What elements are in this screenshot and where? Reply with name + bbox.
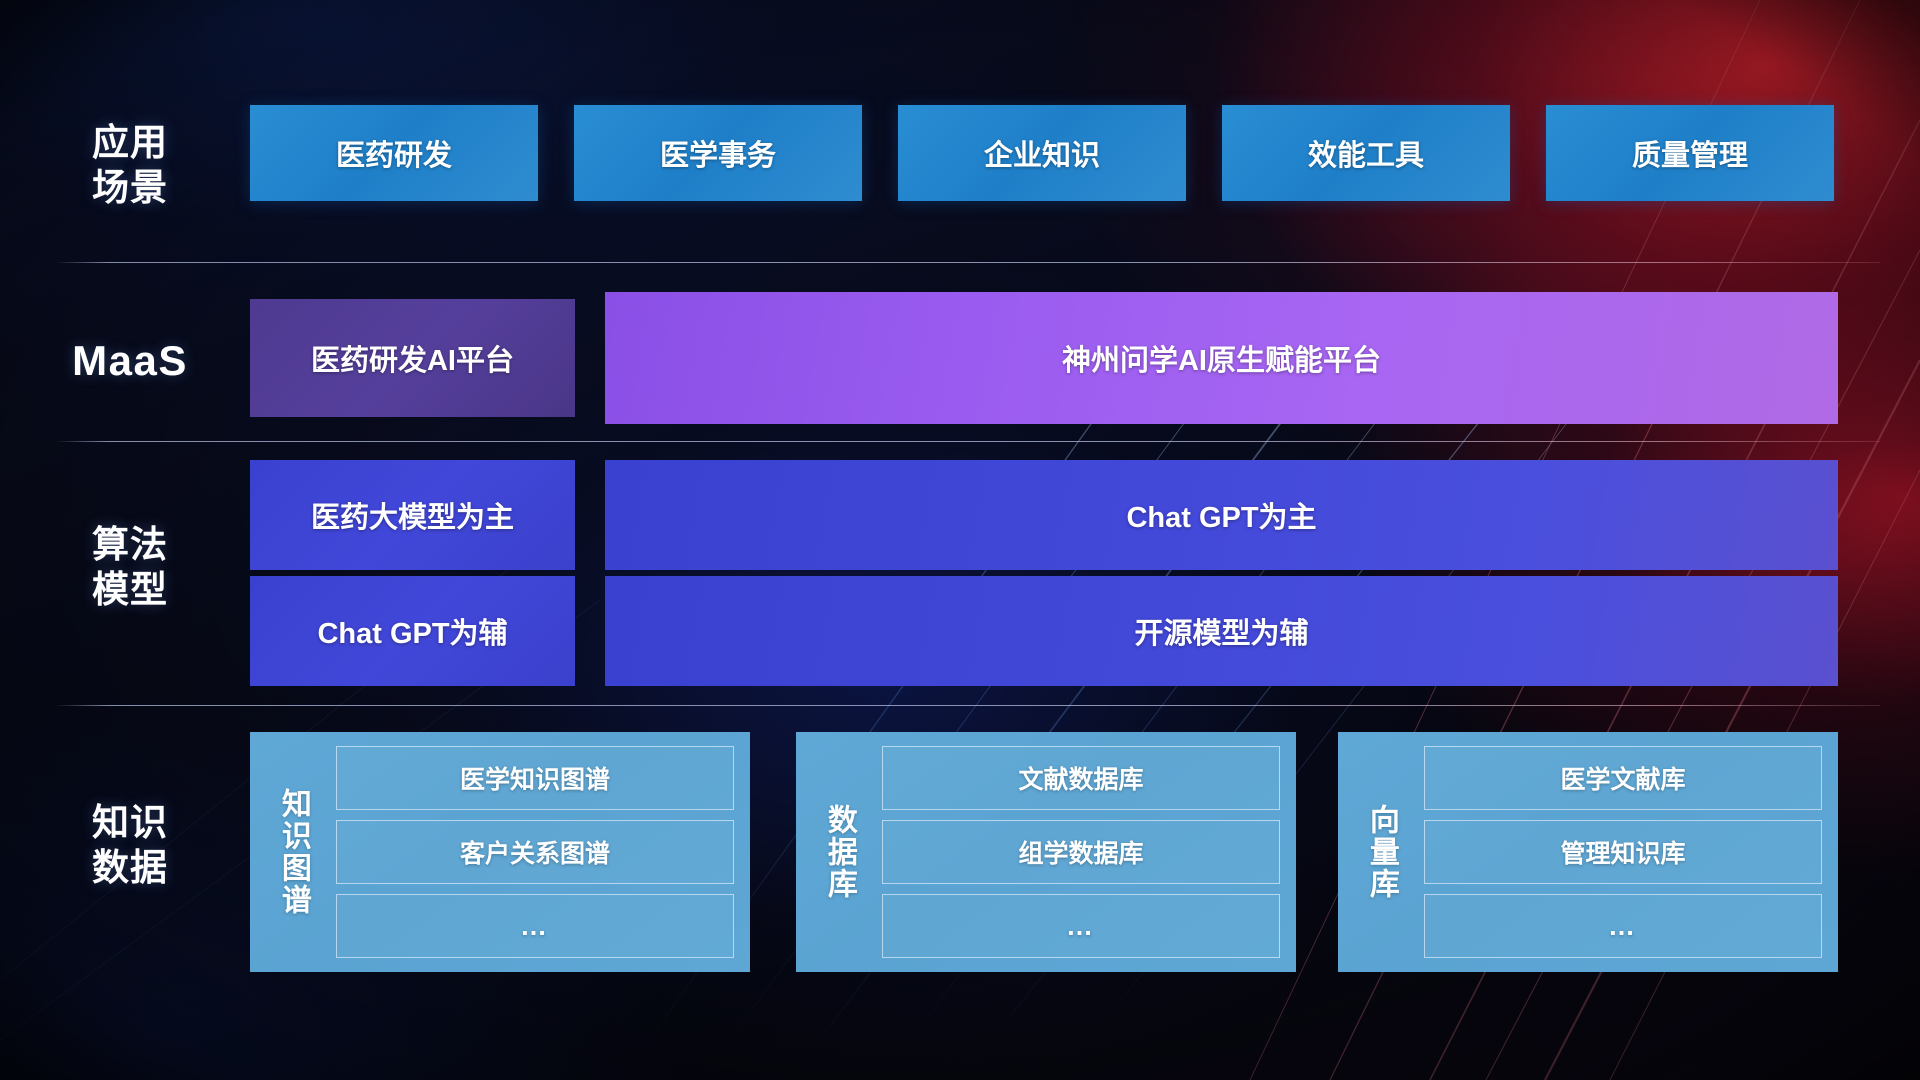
row-label-algorithm-models: 算法 模型 — [55, 522, 205, 612]
algo-label: Chat GPT为辅 — [317, 610, 507, 652]
knowledge-item-more[interactable]: … — [1424, 894, 1822, 958]
app-scenario-label: 医学事务 — [660, 132, 776, 174]
app-scenario-box-5[interactable]: 质量管理 — [1546, 105, 1834, 201]
row-label-application-scenarios: 应用 场景 — [55, 120, 205, 210]
row-label-knowledge-data: 知识 数据 — [55, 800, 205, 890]
app-scenario-label: 企业知识 — [984, 132, 1100, 174]
algo-box-primary-right[interactable]: Chat GPT为主 — [605, 460, 1838, 570]
knowledge-item-more[interactable]: … — [336, 894, 734, 958]
algo-label: 医药大模型为主 — [311, 494, 514, 536]
knowledge-group-title: 向量库 — [1350, 746, 1412, 958]
algo-box-secondary-left[interactable]: Chat GPT为辅 — [250, 576, 575, 686]
row-label-text: MaaS — [55, 335, 205, 386]
maas-right-box[interactable]: 神州问学AI原生赋能平台 — [605, 292, 1838, 424]
knowledge-item[interactable]: 医学知识图谱 — [336, 746, 734, 810]
algo-box-secondary-right[interactable]: 开源模型为辅 — [605, 576, 1838, 686]
knowledge-item[interactable]: 文献数据库 — [882, 746, 1280, 810]
maas-left-label: 医药研发AI平台 — [311, 337, 514, 379]
knowledge-group-items: 医学文献库 管理知识库 … — [1424, 746, 1822, 958]
row-label-line2: 场景 — [55, 165, 205, 210]
row-label-line2: 模型 — [55, 567, 205, 612]
knowledge-group-items: 医学知识图谱 客户关系图谱 … — [336, 746, 734, 958]
maas-left-box[interactable]: 医药研发AI平台 — [250, 299, 575, 417]
row-label-line1: 知识 — [55, 800, 205, 845]
algo-label: Chat GPT为主 — [1126, 494, 1316, 536]
row-label-line1: 应用 — [55, 120, 205, 165]
row-label-maas: MaaS — [55, 335, 205, 386]
app-scenario-box-3[interactable]: 企业知识 — [898, 105, 1186, 201]
knowledge-item[interactable]: 客户关系图谱 — [336, 820, 734, 884]
knowledge-item[interactable]: 医学文献库 — [1424, 746, 1822, 810]
algo-label: 开源模型为辅 — [1134, 610, 1308, 652]
row-label-line1: 算法 — [55, 522, 205, 567]
app-scenario-box-2[interactable]: 医学事务 — [574, 105, 862, 201]
row-label-line2: 数据 — [55, 845, 205, 890]
knowledge-group-vector-store[interactable]: 向量库 医学文献库 管理知识库 … — [1338, 732, 1838, 972]
app-scenario-label: 医药研发 — [336, 132, 452, 174]
algo-box-primary-left[interactable]: 医药大模型为主 — [250, 460, 575, 570]
knowledge-group-items: 文献数据库 组学数据库 … — [882, 746, 1280, 958]
app-scenario-box-1[interactable]: 医药研发 — [250, 105, 538, 201]
knowledge-group-knowledge-graph[interactable]: 知识图谱 医学知识图谱 客户关系图谱 … — [250, 732, 750, 972]
architecture-diagram: 应用 场景 医药研发 医学事务 企业知识 效能工具 质量管理 MaaS 医药研发… — [0, 0, 1920, 1080]
app-scenario-box-4[interactable]: 效能工具 — [1222, 105, 1510, 201]
knowledge-group-database[interactable]: 数据库 文献数据库 组学数据库 … — [796, 732, 1296, 972]
divider-2 — [55, 441, 1880, 442]
knowledge-group-title: 知识图谱 — [262, 746, 324, 958]
divider-3 — [55, 705, 1880, 706]
knowledge-item[interactable]: 管理知识库 — [1424, 820, 1822, 884]
knowledge-item[interactable]: 组学数据库 — [882, 820, 1280, 884]
knowledge-group-title: 数据库 — [808, 746, 870, 958]
knowledge-item-more[interactable]: … — [882, 894, 1280, 958]
maas-right-label: 神州问学AI原生赋能平台 — [1062, 337, 1381, 379]
divider-1 — [55, 262, 1880, 263]
app-scenario-label: 效能工具 — [1308, 132, 1424, 174]
app-scenario-label: 质量管理 — [1632, 132, 1748, 174]
